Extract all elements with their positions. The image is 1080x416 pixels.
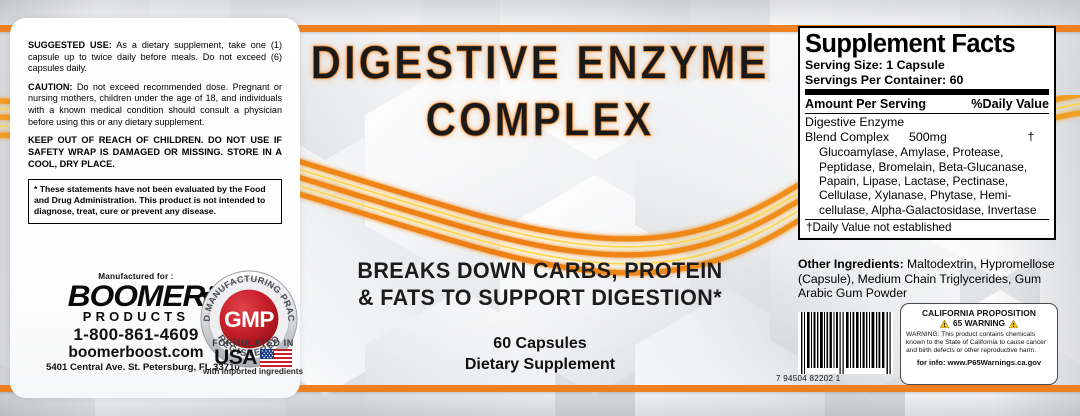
warning-triangle-icon-left bbox=[940, 320, 949, 328]
barcode-number: 7 94504 82202 1 bbox=[776, 374, 906, 383]
us-flag-icon bbox=[260, 349, 292, 367]
supplement-facts-panel: Supplement Facts Serving Size: 1 Capsule… bbox=[798, 26, 1056, 240]
prop65-body-text: WARNING: This product contains chemicals… bbox=[906, 331, 1052, 356]
fda-disclaimer-box: * These statements have not been evaluat… bbox=[28, 179, 282, 224]
blend-name-line2: Blend Complex bbox=[805, 130, 909, 145]
product-title-line2: COMPLEX bbox=[300, 96, 780, 144]
product-category: Dietary Supplement bbox=[300, 354, 780, 375]
supplement-facts-columns: Amount Per Serving %Daily Value bbox=[805, 95, 1049, 113]
suggested-use-label: SUGGESTED USE: bbox=[28, 40, 112, 50]
supplement-label: SUGGESTED USE: As a dietary supplement, … bbox=[0, 0, 1080, 416]
capsule-count: 60 Capsules bbox=[300, 333, 780, 354]
column-daily-value: %Daily Value bbox=[971, 96, 1049, 112]
blend-amount: 500mg bbox=[909, 130, 1013, 145]
caution-paragraph: CAUTION: Do not exceed recommended dose.… bbox=[28, 82, 282, 128]
usa-badge-sub-label: with imported ingredients bbox=[198, 367, 308, 376]
daily-value-footnote: †Daily Value not established bbox=[805, 220, 1049, 235]
product-title-line1: DIGESTIVE ENZYME bbox=[300, 39, 780, 87]
prop65-title-line2: 65 WARNING bbox=[953, 318, 1005, 329]
upc-barcode bbox=[798, 312, 893, 374]
tagline-line1: BREAKS DOWN CARBS, PROTEIN bbox=[300, 257, 780, 284]
tagline-line2: & FATS TO SUPPORT DIGESTION* bbox=[300, 284, 780, 311]
blend-name-line1: Digestive Enzyme bbox=[805, 115, 1049, 130]
suggested-use-paragraph: SUGGESTED USE: As a dietary supplement, … bbox=[28, 40, 282, 75]
warning-triangle-icon-right bbox=[1009, 320, 1018, 328]
caution-label: CAUTION: bbox=[28, 82, 72, 92]
svg-text:GMP: GMP bbox=[224, 307, 274, 332]
blend-row: Digestive Enzyme Blend Complex 500mg † bbox=[805, 114, 1049, 145]
prop65-title-line1: CALIFORNIA PROPOSITION bbox=[906, 308, 1052, 318]
formulated-in-usa-badge: FORMULATED IN USA with imported ing bbox=[198, 338, 308, 376]
other-ingredients: Other Ingredients: Maltodextrin, Hyprome… bbox=[798, 257, 1060, 301]
storage-warning-text: KEEP OUT OF REACH OF CHILDREN. DO NOT US… bbox=[28, 135, 282, 170]
other-ingredients-label: Other Ingredients: bbox=[798, 257, 904, 271]
product-tagline: BREAKS DOWN CARBS, PROTEIN & FATS TO SUP… bbox=[300, 257, 780, 311]
blend-ingredients: Glucoamylase, Amylase, Protease, Peptida… bbox=[805, 145, 1049, 219]
capsule-count-block: 60 Capsules Dietary Supplement bbox=[300, 333, 780, 375]
column-amount-per-serving: Amount Per Serving bbox=[805, 96, 926, 112]
prop65-info-url: for info: www.P65Warnings.ca.gov bbox=[906, 358, 1052, 367]
product-title: DIGESTIVE ENZYME COMPLEX bbox=[300, 42, 780, 142]
servings-per-container: Servings Per Container: 60 bbox=[805, 73, 1049, 88]
prop65-warning-box: CALIFORNIA PROPOSITION 65 WARNING WARNIN… bbox=[900, 303, 1058, 385]
usa-badge-word: USA bbox=[214, 347, 257, 368]
blend-daily-value: † bbox=[1013, 130, 1049, 145]
supplement-facts-title: Supplement Facts bbox=[805, 30, 1049, 58]
serving-size: Serving Size: 1 Capsule bbox=[805, 58, 1049, 73]
